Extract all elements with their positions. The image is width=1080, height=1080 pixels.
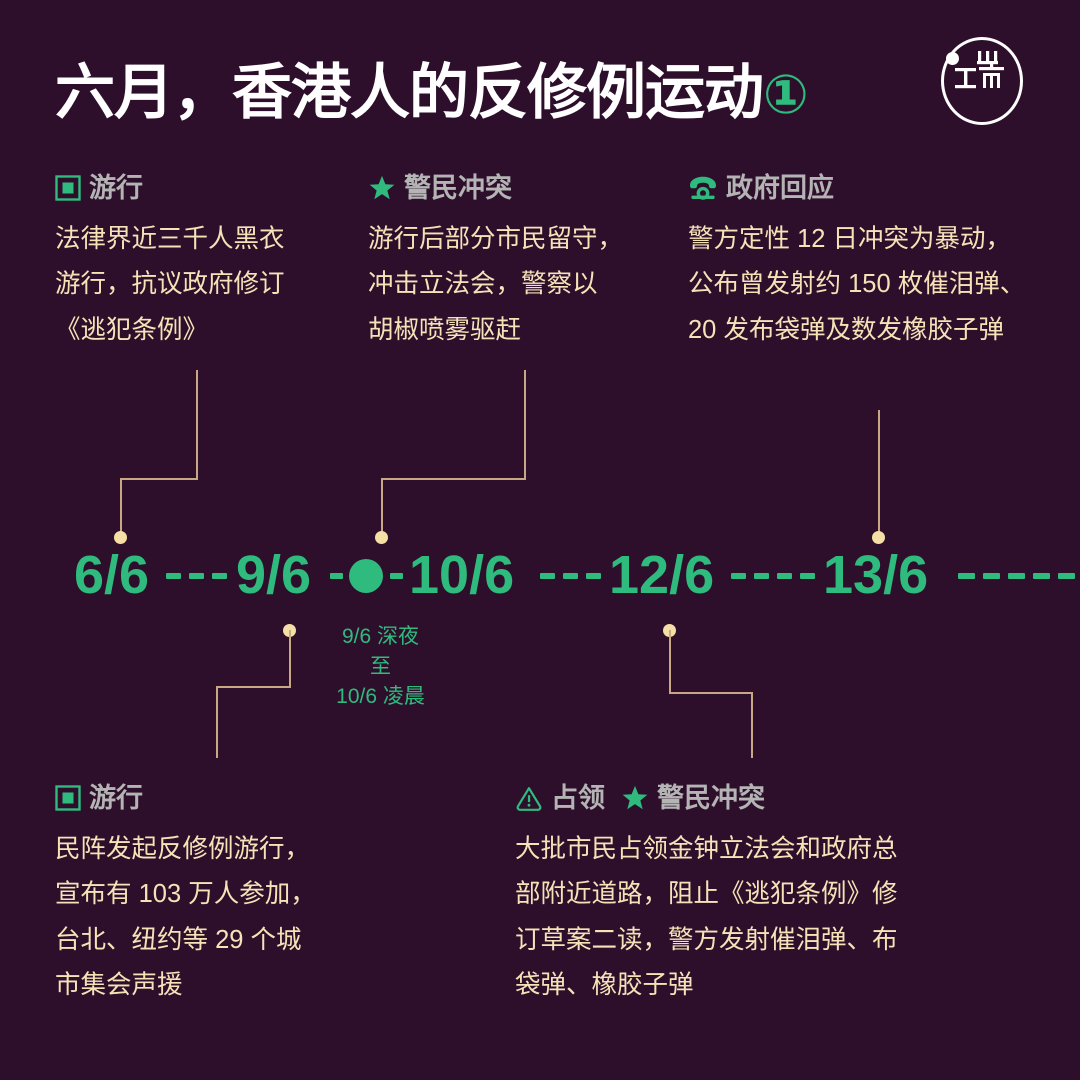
tag-label: 警民冲突: [404, 175, 512, 202]
timeline-dash: [330, 573, 343, 579]
timeline: 6/6 9/6 10/6 12/6 13/6 9/6 深夜 至 10/6 凌晨: [0, 548, 1080, 624]
square-marker-icon: [55, 785, 81, 811]
card-body: 法律界近三千人黑衣 游行，抗议政府修订 《逃犯条例》: [55, 217, 355, 353]
body-line: 台北、纽约等 29 个城: [55, 918, 395, 963]
tag-gov-response: 政府回应: [688, 175, 834, 202]
body-line: 20 发布袋弹及数发橡胶子弹: [688, 308, 1080, 353]
card-top-gov-response: 政府回应 警方定性 12 日冲突为暴动， 公布曾发射约 150 枚催泪弹、 20…: [688, 173, 1080, 353]
tag-label: 游行: [89, 175, 143, 202]
timeline-dash: [754, 573, 769, 579]
card-body: 民阵发起反修例游行， 宣布有 103 万人参加， 台北、纽约等 29 个城 市集…: [55, 827, 395, 1009]
body-line: 袋弹、橡胶子弹: [515, 963, 995, 1008]
body-line: 法律界近三千人黑衣: [55, 217, 355, 262]
square-marker-icon: [55, 175, 81, 201]
timeline-dash: [777, 573, 792, 579]
timeline-dash: [563, 573, 578, 579]
connector-segment: [878, 410, 880, 538]
card-bottom-march: 游行 民阵发起反修例游行， 宣布有 103 万人参加， 台北、纽约等 29 个城…: [55, 783, 395, 1009]
tag-row: 游行: [55, 173, 355, 203]
timeline-date-13-6[interactable]: 13/6: [823, 548, 928, 602]
body-line: 冲击立法会，警察以: [368, 262, 668, 307]
timeline-date-10-6[interactable]: 10/6: [409, 548, 514, 602]
timeline-dash: [1058, 573, 1075, 579]
connector-segment: [669, 692, 753, 694]
body-line: 部附近道路，阻止《逃犯条例》修: [515, 872, 995, 917]
connector-segment: [120, 478, 122, 538]
body-line: 游行后部分市民留守，: [368, 217, 668, 262]
timeline-dash: [800, 573, 815, 579]
tag-march: 游行: [55, 785, 143, 812]
card-bottom-occupy: 占领 警民冲突 大批市民占领金钟立法会和政府总 部附近道路，阻止《逃犯条例》修 …: [515, 783, 995, 1009]
timeline-dash: [390, 573, 403, 579]
card-top-march: 游行 法律界近三千人黑衣 游行，抗议政府修订 《逃犯条例》: [55, 173, 355, 353]
tag-label: 政府回应: [726, 175, 834, 202]
tag-row: 政府回应: [688, 173, 1080, 203]
body-line: 民阵发起反修例游行，: [55, 827, 395, 872]
timeline-dash: [1033, 573, 1050, 579]
card-top-clash: 警民冲突 游行后部分市民留守， 冲击立法会，警察以 胡椒喷雾驱赶: [368, 173, 668, 353]
tag-row: 警民冲突: [368, 173, 668, 203]
body-line: 警方定性 12 日冲突为暴动，: [688, 217, 1080, 262]
body-line: 《逃犯条例》: [55, 308, 355, 353]
tag-row: 占领 警民冲突: [515, 783, 995, 813]
body-line: 订草案二读，警方发射催泪弹、布: [515, 918, 995, 963]
tag-clash: 警民冲突: [621, 784, 765, 812]
infographic-canvas: 六月，香港人的反修例运动①: [0, 0, 1080, 1080]
body-line: 胡椒喷雾驱赶: [368, 308, 668, 353]
connector-segment: [120, 478, 198, 480]
page-title-text: 六月，香港人的反修例运动: [55, 59, 763, 126]
page-title: 六月，香港人的反修例运动①: [55, 44, 808, 131]
timeline-dash: [189, 573, 204, 579]
connector-segment: [381, 478, 526, 480]
timeline-marker-overnight[interactable]: [349, 559, 383, 593]
card-body: 警方定性 12 日冲突为暴动， 公布曾发射约 150 枚催泪弹、 20 发布袋弹…: [688, 217, 1080, 353]
connector-dot: [114, 531, 127, 544]
connector-segment: [196, 370, 198, 480]
connector-segment: [381, 478, 383, 538]
body-line: 宣布有 103 万人参加，: [55, 872, 395, 917]
timeline-dash: [1008, 573, 1025, 579]
warning-triangle-icon: [515, 785, 543, 811]
body-line: 公布曾发射约 150 枚催泪弹、: [688, 262, 1080, 307]
timeline-dash: [586, 573, 601, 579]
timeline-dash: [166, 573, 181, 579]
star-icon: [621, 784, 649, 812]
body-line: 市集会声援: [55, 963, 395, 1008]
tag-clash: 警民冲突: [368, 174, 512, 202]
body-line: 大批市民占领金钟立法会和政府总: [515, 827, 995, 872]
timeline-dash: [540, 573, 555, 579]
connector-segment: [751, 692, 753, 758]
connector-segment: [216, 686, 291, 688]
timeline-dash: [212, 573, 227, 579]
initium-media-logo: [938, 33, 1028, 129]
connector-segment: [289, 630, 291, 686]
connector-dot: [872, 531, 885, 544]
timeline-dash: [983, 573, 1000, 579]
timeline-date-6-6[interactable]: 6/6: [74, 548, 149, 602]
header: 六月，香港人的反修例运动①: [0, 0, 1080, 150]
tag-label: 游行: [89, 785, 143, 812]
tag-march: 游行: [55, 175, 143, 202]
tag-occupy: 占领: [515, 785, 605, 812]
connector-segment: [524, 370, 526, 480]
timeline-date-9-6[interactable]: 9/6: [236, 548, 311, 602]
timeline-dash: [731, 573, 746, 579]
timeline-dash: [958, 573, 975, 579]
telephone-icon: [688, 175, 718, 201]
tag-row: 游行: [55, 783, 395, 813]
connector-segment: [216, 686, 218, 758]
body-line: 游行，抗议政府修订: [55, 262, 355, 307]
star-icon: [368, 174, 396, 202]
card-body: 大批市民占领金钟立法会和政府总 部附近道路，阻止《逃犯条例》修 订草案二读，警方…: [515, 827, 995, 1009]
connector-dot: [375, 531, 388, 544]
card-body: 游行后部分市民留守， 冲击立法会，警察以 胡椒喷雾驱赶: [368, 217, 668, 353]
connector-segment: [669, 630, 671, 692]
tag-label: 占领: [551, 785, 605, 812]
page-title-index: ①: [763, 65, 808, 125]
tag-label: 警民冲突: [657, 785, 765, 812]
timeline-marker-note: 9/6 深夜 至 10/6 凌晨: [318, 622, 443, 711]
logo-glyph-icon: [953, 49, 1009, 99]
timeline-date-12-6[interactable]: 12/6: [609, 548, 714, 602]
